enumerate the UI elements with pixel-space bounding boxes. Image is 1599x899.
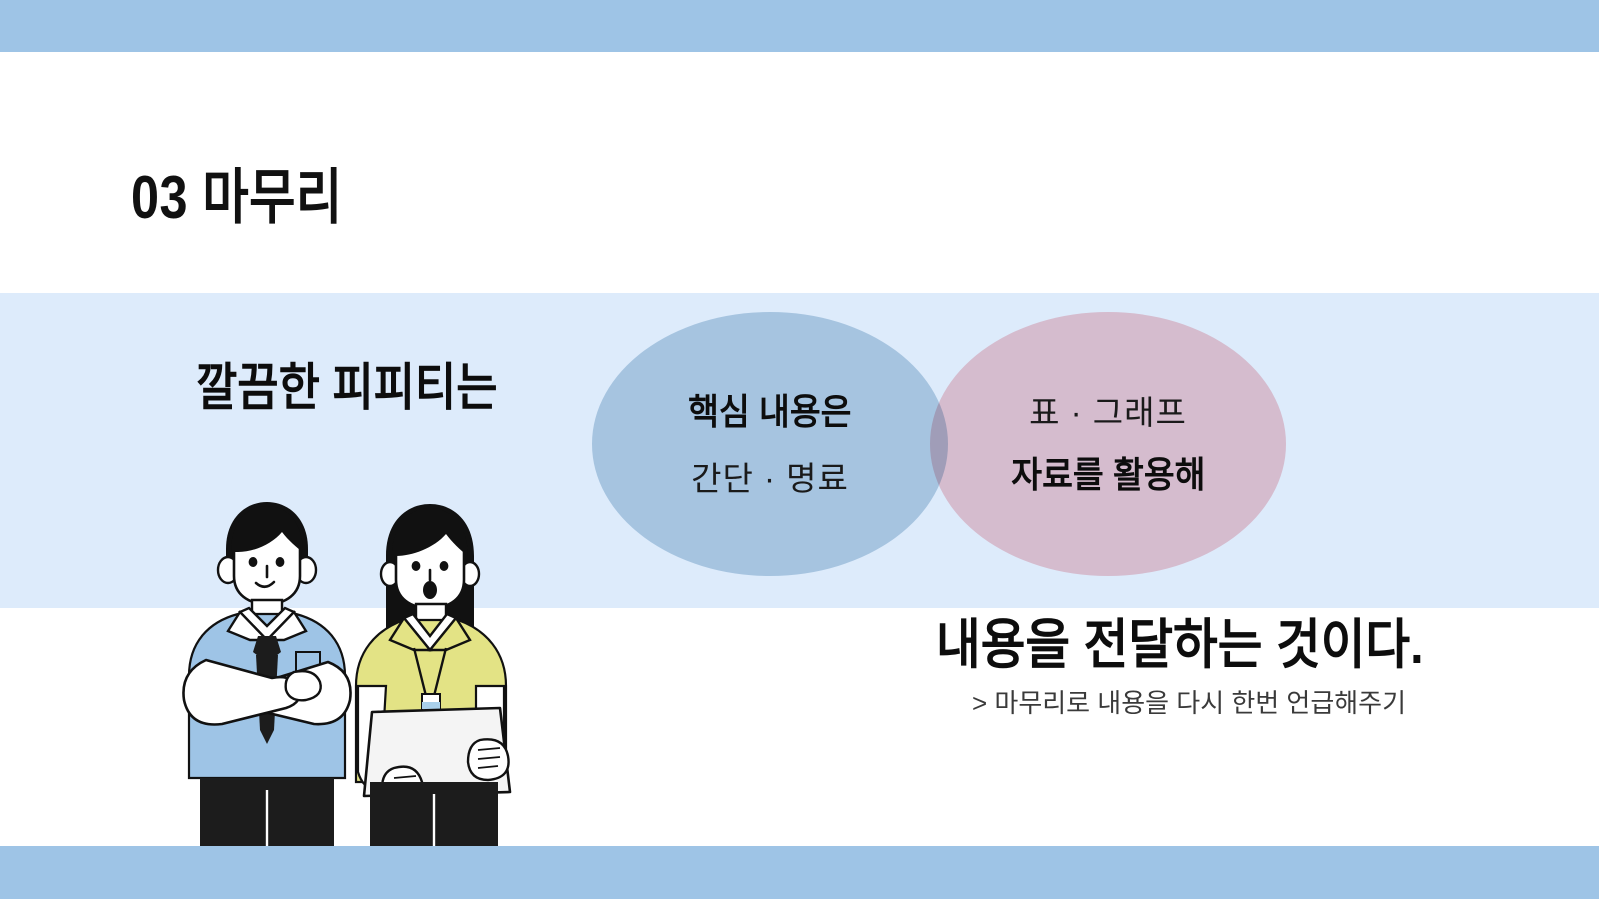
venn-right-line2: 자료를 활용해 <box>1011 457 1205 493</box>
venn-left-line2: 간단 · 명료 <box>691 462 849 495</box>
venn-label-right: 표 · 그래프 자료를 활용해 <box>930 312 1286 576</box>
section-title: 03 마무리 <box>131 168 343 228</box>
top-accent-band <box>0 0 1599 52</box>
woman-figure <box>356 504 510 846</box>
man-figure <box>183 502 350 846</box>
conclusion-headline: 내용을 전달하는 것이다. <box>936 618 1440 672</box>
venn-left-line1: 핵심 내용은 <box>688 394 851 430</box>
bottom-accent-band <box>0 846 1599 899</box>
conclusion-block: 내용을 전달하는 것이다. > 마무리로 내용을 다시 한번 언급해주기 <box>936 618 1496 716</box>
lead-headline: 깔끔한 피피티는 <box>196 362 498 413</box>
conclusion-note: > 마무리로 내용을 다시 한번 언급해주기 <box>972 690 1496 716</box>
venn-diagram: 핵심 내용은 간단 · 명료 표 · 그래프 자료를 활용해 <box>592 312 1282 576</box>
venn-label-left: 핵심 내용은 간단 · 명료 <box>592 312 948 576</box>
presentation-slide: 03 마무리 깔끔한 피피티는 핵심 내용은 간단 · 명료 표 · 그래프 자… <box>0 0 1599 899</box>
venn-right-line1: 표 · 그래프 <box>1029 396 1187 429</box>
people-illustration <box>168 500 568 846</box>
